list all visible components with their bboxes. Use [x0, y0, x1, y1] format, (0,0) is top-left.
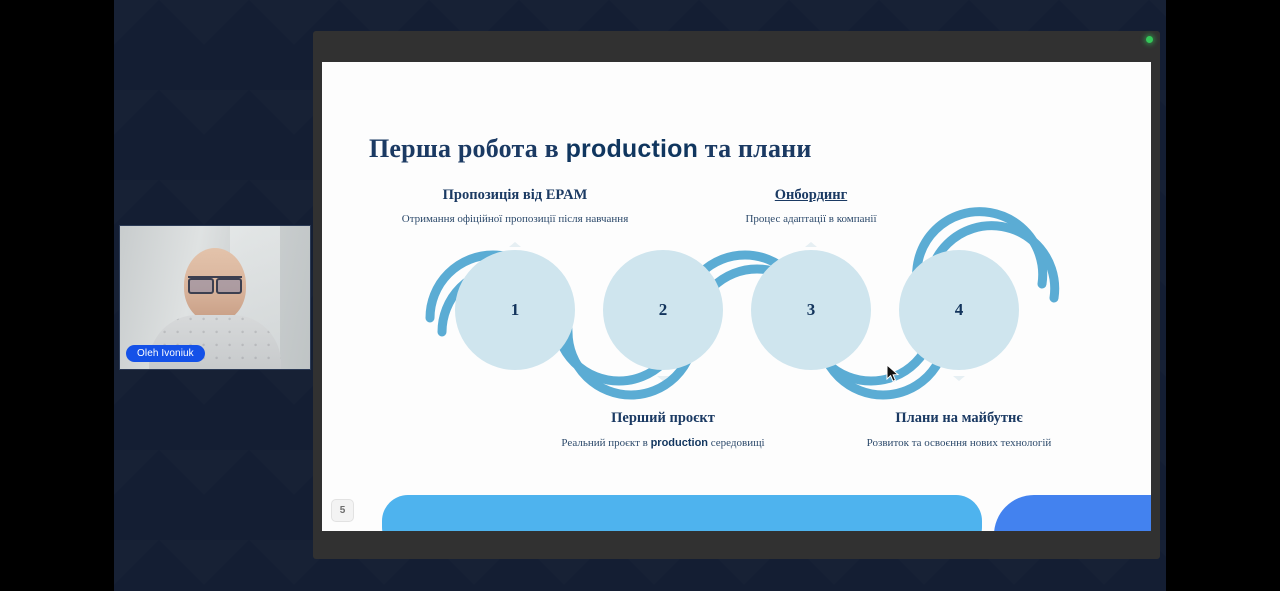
connector-triangle-1	[509, 242, 521, 247]
recording-indicator-dot	[1146, 36, 1153, 43]
step-1-heading: Пропозиція від EPAM	[395, 187, 635, 204]
step-2-subtitle-after: середовищі	[708, 437, 765, 449]
step-3-subtitle-text: Процес адаптації в компанії	[745, 213, 876, 225]
step-1-subtitle: Отримання офіційної пропозиції після нав…	[365, 213, 665, 225]
glasses-left-lens	[188, 278, 214, 294]
participant-video-tile[interactable]: Oleh Ivoniuk	[119, 225, 311, 370]
step-circle-2-number: 2	[659, 300, 668, 320]
screen: Перша робота в production та плани 1 2 3…	[0, 0, 1280, 591]
step-3-heading: Онбординг	[741, 187, 881, 204]
step-circle-3-number: 3	[807, 300, 816, 320]
step-2-subtitle-highlight: production	[651, 437, 708, 449]
step-1-subtitle-text: Отримання офіційної пропозиції після нав…	[402, 213, 629, 225]
step-4-heading: Плани на майбутнє	[859, 410, 1059, 427]
footer-bar-dark	[994, 495, 1151, 531]
step-2-subtitle: Реальний проєкт в production середовищі	[523, 437, 803, 449]
step-circle-1-number: 1	[511, 300, 520, 320]
s-curve-ribbon-graphic	[322, 62, 1151, 531]
connector-triangle-3	[805, 242, 817, 247]
connector-triangle-2	[657, 376, 669, 381]
footer-bar-light	[382, 495, 982, 531]
step-2-subtitle-before: Реальний проєкт в	[561, 437, 650, 449]
mouse-cursor	[886, 364, 900, 384]
step-3-subtitle: Процес адаптації в компанії	[711, 213, 911, 225]
participant-name-badge: Oleh Ivoniuk	[126, 345, 205, 362]
step-circle-3[interactable]: 3	[751, 250, 871, 370]
step-circle-4[interactable]: 4	[899, 250, 1019, 370]
glasses-right-lens	[216, 278, 242, 294]
slide-number-badge[interactable]: 5	[331, 499, 354, 522]
step-circle-4-number: 4	[955, 300, 964, 320]
slide-canvas[interactable]: Перша робота в production та плани 1 2 3…	[322, 62, 1151, 531]
glasses-icon	[188, 276, 242, 290]
step-4-subtitle: Розвиток та освоєння нових технологій	[819, 437, 1099, 449]
connector-triangle-4	[953, 376, 965, 381]
step-2-heading: Перший проєкт	[563, 410, 763, 427]
step-circle-2[interactable]: 2	[603, 250, 723, 370]
slide-number-value: 5	[340, 505, 346, 516]
step-circle-1[interactable]: 1	[455, 250, 575, 370]
presentation-frame[interactable]: Перша робота в production та плани 1 2 3…	[313, 31, 1160, 559]
step-4-subtitle-text: Розвиток та освоєння нових технологій	[867, 437, 1052, 449]
